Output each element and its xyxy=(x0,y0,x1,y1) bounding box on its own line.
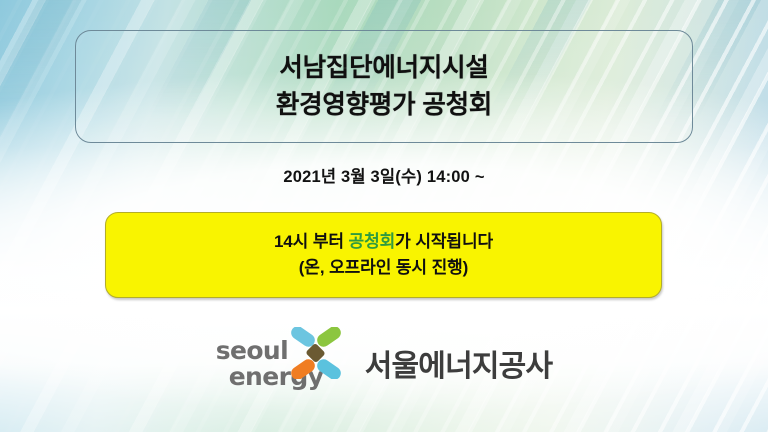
wordmark-line-1: seoul xyxy=(216,336,288,365)
corporation-name: 서울에너지공사 xyxy=(365,341,553,385)
notice-highlight-word: 공청회 xyxy=(349,232,396,251)
title-frame: 서남집단에너지시설 환경영향평가 공청회 xyxy=(75,30,693,143)
notice-line-2: (온, 오프라인 동시 진행) xyxy=(299,255,468,281)
seoul-energy-pinwheel-icon xyxy=(287,327,345,379)
notice-line-1: 14시 부터 공청회가 시작됩니다 xyxy=(274,229,493,255)
notice-text-before: 14시 부터 xyxy=(274,232,349,251)
title-line-1: 서남집단에너지시설 xyxy=(279,50,488,86)
notice-box: 14시 부터 공청회가 시작됩니다 (온, 오프라인 동시 진행) xyxy=(105,212,662,298)
seoul-energy-logo: seoul energy xyxy=(216,330,351,392)
notice-text-after: 가 시작됩니다 xyxy=(395,232,493,251)
presentation-slide: 서남집단에너지시설 환경영향평가 공청회 2021년 3월 3일(수) 14:0… xyxy=(0,0,768,432)
title-line-2: 환경영향평가 공청회 xyxy=(276,87,492,123)
logo-row: seoul energy 서울에너지공사 xyxy=(0,326,768,396)
event-datetime: 2021년 3월 3일(수) 14:00 ~ xyxy=(0,163,768,187)
